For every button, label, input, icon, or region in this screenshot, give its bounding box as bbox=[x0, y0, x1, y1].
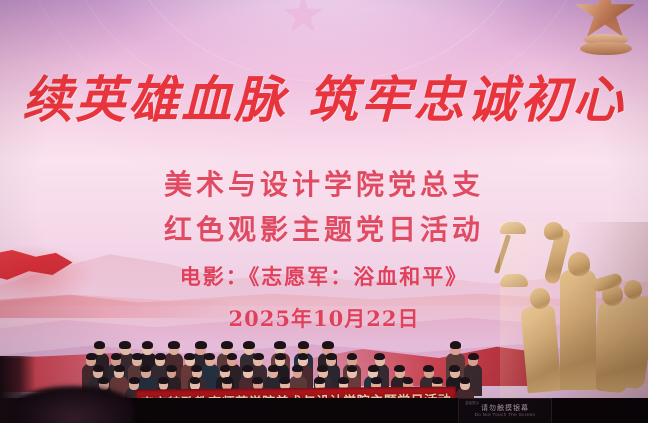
slide-subtitle-line-1: 美术与设计学院党总支 bbox=[0, 163, 648, 203]
crowd-person-hair bbox=[403, 377, 414, 384]
watermark-star-icon bbox=[282, 0, 324, 36]
crowd-person-hair bbox=[191, 365, 202, 372]
crowd-person-hair bbox=[195, 341, 207, 349]
slide-subtitle-line-2: 红色观影主题党日活动 bbox=[0, 208, 648, 248]
crowd-person-hair bbox=[132, 353, 143, 360]
crowd-person-hair bbox=[98, 377, 109, 384]
crowd-person-hair bbox=[220, 365, 231, 372]
crowd-person-hair bbox=[338, 377, 349, 384]
crowd-person-hair bbox=[119, 341, 131, 349]
crowd-person-hair bbox=[468, 353, 479, 360]
crowd-person-hair bbox=[368, 365, 379, 372]
crowd-person-hair bbox=[314, 377, 325, 384]
crowd-person-hair bbox=[243, 341, 255, 349]
crowd-person-hair bbox=[322, 341, 334, 349]
crowd-person-hair bbox=[347, 365, 358, 372]
sign-english-text: Do Not Touch The Screen bbox=[459, 412, 551, 417]
crowd-person-hair bbox=[94, 341, 106, 349]
crowd-person-hair bbox=[222, 377, 233, 384]
crowd-person-hair bbox=[190, 377, 201, 384]
crowd-person-hair bbox=[168, 341, 180, 349]
crowd-person-hair bbox=[374, 353, 385, 360]
slide-main-title: 续英雄血脉 筑牢忠诚初心 bbox=[0, 72, 648, 128]
crowd-person-hair bbox=[166, 365, 177, 372]
audience-silhouette bbox=[14, 386, 134, 423]
crowd-person-hair bbox=[158, 377, 169, 384]
crowd-person-hair bbox=[114, 365, 125, 372]
do-not-touch-sign: 温馨提示 请勿触摸银幕 Do Not Touch The Screen bbox=[458, 398, 552, 423]
crowd-person-hair bbox=[423, 365, 434, 372]
crowd-person-hair bbox=[371, 377, 382, 384]
crowd-person-hair bbox=[298, 353, 309, 360]
crowd-person-hair bbox=[292, 365, 303, 372]
crowd-person-hair bbox=[252, 377, 263, 384]
crowd-person-hair bbox=[253, 353, 264, 360]
gold-star-emblem-icon bbox=[568, 0, 642, 62]
crowd-person-hair bbox=[86, 353, 97, 360]
crowd-person-hair bbox=[93, 365, 104, 372]
crowd-person-hair bbox=[268, 365, 279, 372]
crowd-person-hair bbox=[142, 341, 154, 349]
crowd-person-hair bbox=[242, 365, 253, 372]
crowd-person-hair bbox=[326, 353, 337, 360]
crowd-person-hair bbox=[184, 353, 195, 360]
crowd-person-hair bbox=[227, 353, 238, 360]
screenshot-root: 续英雄血脉 筑牢忠诚初心 美术与设计学院党总支 红色观影主题党日活动 电影：《志… bbox=[0, 0, 648, 423]
crowd-person-hair bbox=[275, 353, 286, 360]
crowd-person-hair bbox=[298, 341, 310, 349]
crowd-person-hair bbox=[279, 377, 290, 384]
crowd-person-hair bbox=[449, 365, 460, 372]
crowd-person-hair bbox=[204, 353, 215, 360]
crowd-person-hair bbox=[274, 341, 286, 349]
crowd-person-hair bbox=[394, 365, 405, 372]
slide-date-line: 2025年10月22日 bbox=[0, 303, 648, 333]
crowd-person-hair bbox=[111, 353, 122, 360]
crowd-person-hair bbox=[317, 365, 328, 372]
crowd-person-hair bbox=[155, 353, 166, 360]
crowd-person-hair bbox=[347, 353, 358, 360]
crowd-person-hair bbox=[432, 377, 443, 384]
crowd-person-hair bbox=[129, 377, 140, 384]
slide-movie-line: 电影：《志愿军：浴血和平》 bbox=[0, 261, 648, 291]
crowd-person-hair bbox=[221, 341, 233, 349]
crowd-person-hair bbox=[460, 377, 471, 384]
crowd-person-hair bbox=[140, 365, 151, 372]
crowd-person-hair bbox=[450, 341, 462, 349]
